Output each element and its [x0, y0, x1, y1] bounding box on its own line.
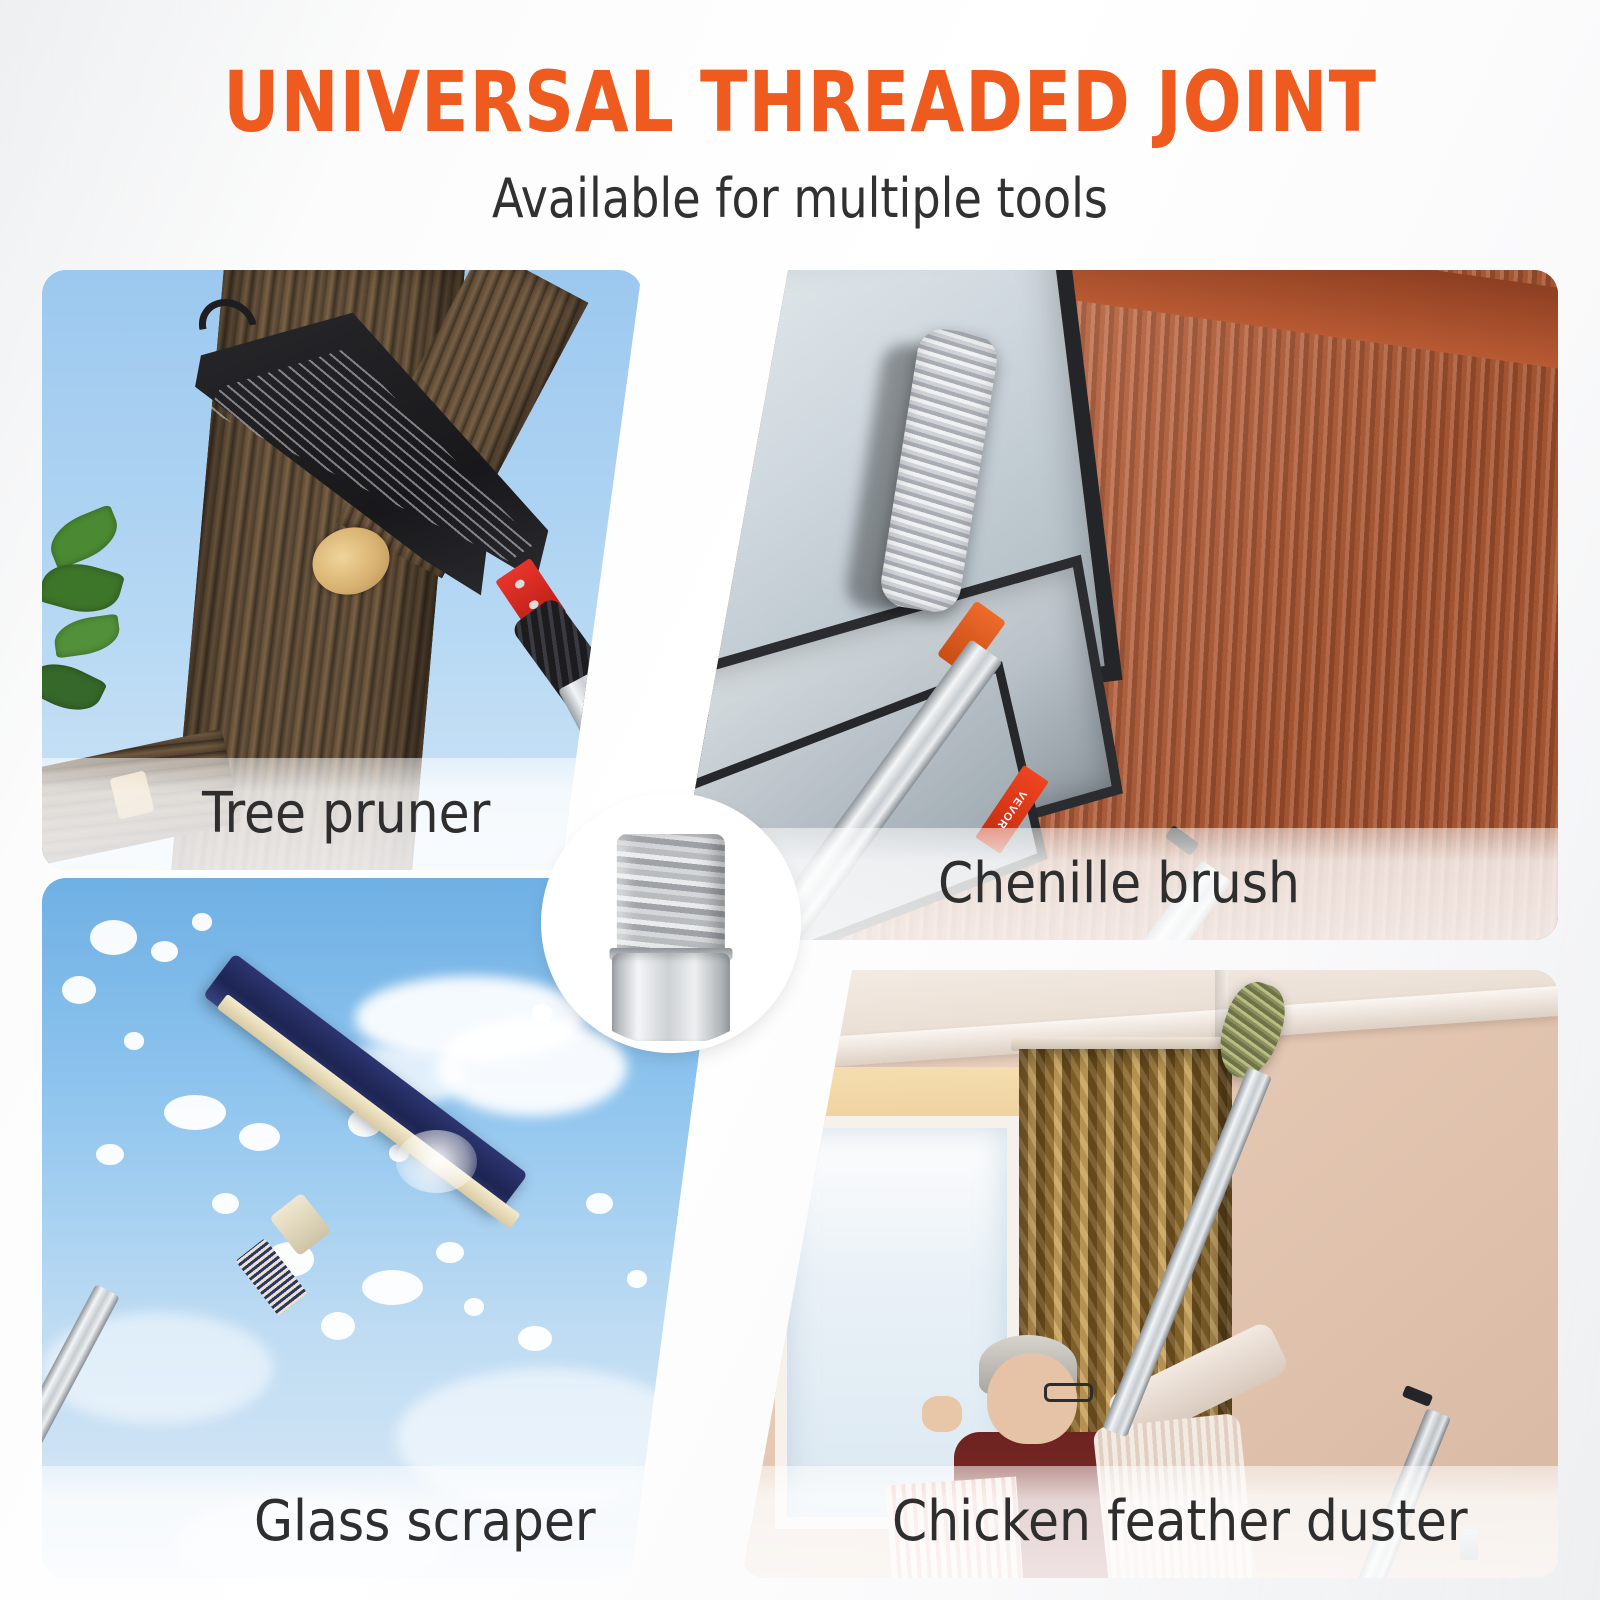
soap-sud: [362, 1270, 423, 1305]
header: UNIVERSAL THREADED JOINT Available for m…: [0, 0, 1600, 258]
soap-sud: [586, 1193, 613, 1214]
soap-sud: [124, 1032, 144, 1050]
soap-sud: [518, 1326, 552, 1351]
screw-base: [612, 953, 730, 1042]
person-pointing-hand: [922, 1396, 963, 1432]
soap-sud: [96, 1144, 123, 1165]
soap-sud: [151, 941, 178, 962]
page-subtitle: Available for multiple tools: [40, 172, 1560, 226]
panel-tree-pruner[interactable]: Tree pruner: [42, 270, 642, 870]
eyeglasses-icon: [1044, 1383, 1093, 1401]
threaded-joint-inset[interactable]: [548, 800, 794, 1046]
soap-sud: [239, 1123, 280, 1151]
soap-sud: [464, 1298, 484, 1316]
panel-caption-glass-scraper: Glass scraper: [254, 1494, 596, 1550]
soap-sud: [321, 1312, 355, 1340]
caption-bar: Tree pruner: [42, 758, 642, 870]
panel-chicken-feather-duster[interactable]: Chicken feather duster: [742, 970, 1558, 1578]
panel-chenille-brush[interactable]: VEVOR Chenille brush: [668, 270, 1558, 940]
screw-thread-icon: [617, 834, 725, 957]
caption-bar: Chenille brush: [668, 828, 1558, 940]
tool-collage: Tree pruner VEVOR Chenille brush: [0, 258, 1600, 1600]
soap-sud: [532, 1004, 552, 1022]
soap-sud: [627, 1270, 647, 1288]
soap-sud: [212, 1193, 239, 1214]
panel-caption-chenille-brush: Chenille brush: [938, 856, 1300, 912]
panel-caption-tree-pruner: Tree pruner: [202, 786, 490, 842]
page-title: UNIVERSAL THREADED JOINT: [64, 60, 1536, 144]
caption-bar: Glass scraper: [42, 1466, 722, 1578]
panel-caption-feather-duster: Chicken feather duster: [892, 1494, 1468, 1550]
soap-foam: [396, 1130, 478, 1193]
cloud: [436, 1018, 626, 1116]
soap-sud: [90, 920, 138, 955]
soap-sud: [436, 1242, 463, 1263]
caption-bar: Chicken feather duster: [742, 1466, 1558, 1578]
soap-sud: [164, 1095, 225, 1130]
soap-sud: [192, 913, 212, 931]
